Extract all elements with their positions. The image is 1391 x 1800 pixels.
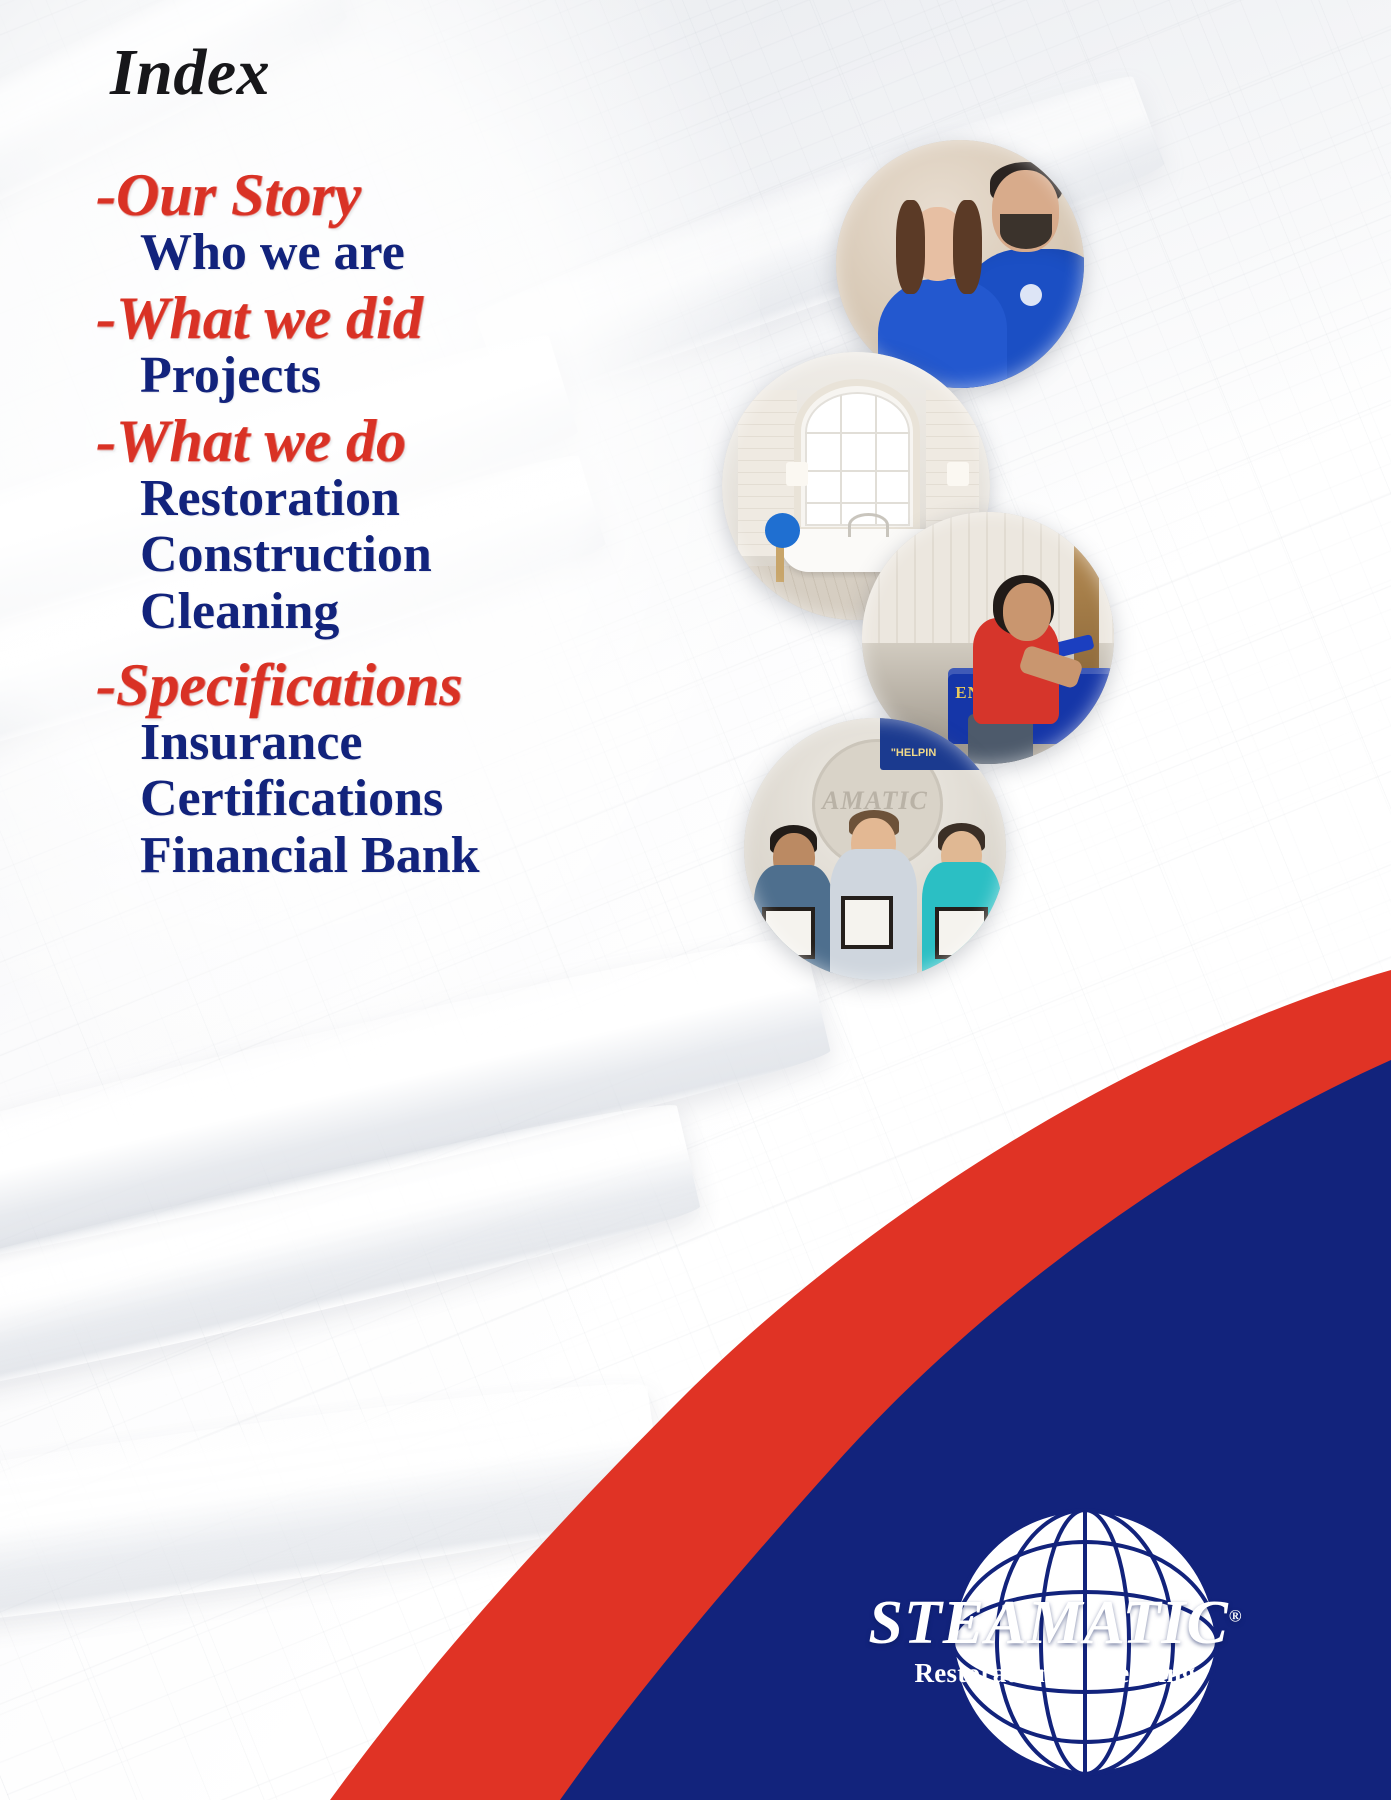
logo-tagline: Restoration & Cleaning: [845, 1658, 1265, 1689]
index-section-heading[interactable]: -Our Story: [96, 165, 736, 225]
index-section-item[interactable]: Financial Bank: [140, 828, 736, 885]
index-section-item[interactable]: Restoration: [140, 471, 736, 528]
index-section-item[interactable]: Insurance: [140, 715, 736, 772]
index-section-item[interactable]: Certifications: [140, 771, 736, 828]
photo-team-with-certificates: AMATIC "HELPIN: [744, 718, 1006, 980]
index-section-item[interactable]: Who we are: [140, 225, 736, 282]
steamatic-logo: STEAMATIC® Restoration & Cleaning: [935, 1492, 1235, 1792]
photo-scene: [836, 140, 1084, 388]
index-section-heading[interactable]: -What we did: [96, 288, 736, 348]
photo-team-couple-portrait: [836, 140, 1084, 388]
index-section-item[interactable]: Projects: [140, 348, 736, 405]
index-section-specifications: -Specifications Insurance Certifications…: [96, 655, 736, 885]
index-section-item[interactable]: Construction: [140, 527, 736, 584]
index-section-item[interactable]: Cleaning: [140, 584, 736, 641]
index-section-what-we-do: -What we do Restoration Construction Cle…: [96, 411, 736, 641]
index-section-our-story: -Our Story Who we are: [96, 165, 736, 282]
index-section-heading[interactable]: -What we do: [96, 411, 736, 471]
logo-wordmark: STEAMATIC®: [845, 1588, 1265, 1659]
index-section-what-we-did: -What we did Projects: [96, 288, 736, 405]
registered-trademark-icon: ®: [1229, 1606, 1242, 1625]
flyer-page: EN AMATIC "HELPIN: [0, 0, 1391, 1800]
photo-scene: AMATIC "HELPIN: [744, 718, 1006, 980]
index-column: Index -Our Story Who we are -What we did…: [96, 38, 736, 885]
logo-wordmark-text: STEAMATIC: [868, 1589, 1228, 1657]
page-title: Index: [110, 38, 736, 107]
index-section-heading[interactable]: -Specifications: [96, 655, 736, 715]
